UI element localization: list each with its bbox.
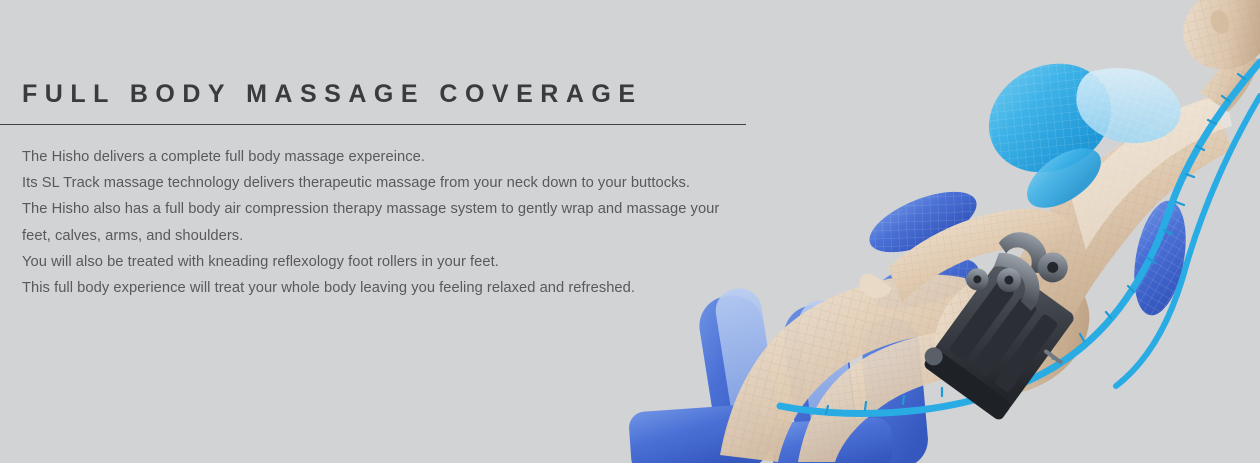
body-line: This full body experience will treat you…	[22, 275, 752, 301]
body-line: You will also be treated with kneading r…	[22, 249, 752, 275]
body-line: Its SL Track massage technology delivers…	[22, 170, 752, 196]
body-line: The Hisho delivers a complete full body …	[22, 144, 752, 170]
body-line: feet, calves, arms, and shoulders.	[22, 223, 752, 249]
page-title: FULL BODY MASSAGE COVERAGE	[22, 80, 643, 109]
full-body-massage-banner: FULL BODY MASSAGE COVERAGE The Hisho del…	[0, 0, 1260, 463]
copy-block: FULL BODY MASSAGE COVERAGE The Hisho del…	[0, 0, 760, 463]
body-copy: The Hisho delivers a complete full body …	[22, 144, 752, 301]
body-line: The Hisho also has a full body air compr…	[22, 196, 752, 222]
title-divider	[0, 124, 746, 125]
